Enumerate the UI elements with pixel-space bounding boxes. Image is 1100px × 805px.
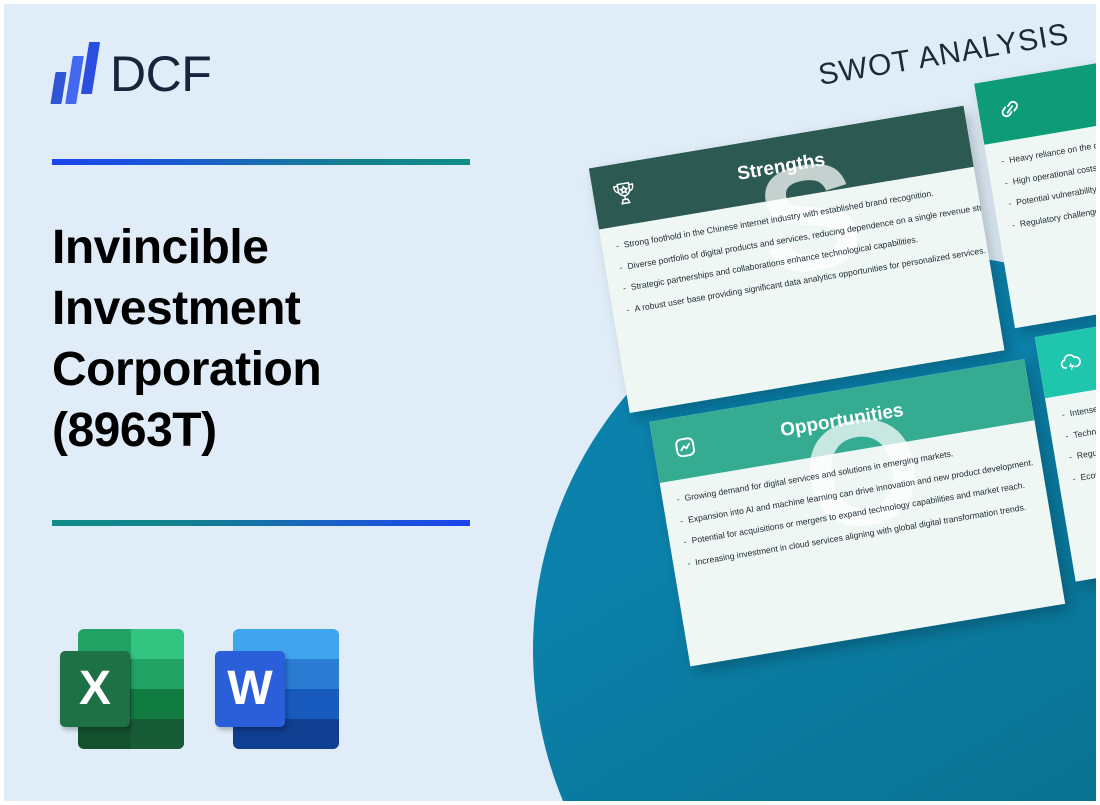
logo-bar-2 (65, 56, 84, 104)
swot-card-strengths[interactable]: Strengths S Strong foothold in the Chine… (589, 106, 1005, 413)
trophy-icon (589, 158, 660, 229)
logo-bar-1 (50, 72, 66, 104)
brand-logo-text: DCF (110, 45, 211, 103)
three-bar-chart-mark-icon (48, 42, 104, 104)
excel-letter-tile: X (60, 651, 130, 727)
page-title: Invincible Investment Corporation (8963T… (52, 217, 482, 461)
download-icons: X W (54, 624, 344, 754)
word-icon[interactable]: W (209, 624, 344, 754)
divider-bottom (52, 520, 470, 526)
swot-board: SWOT ANALYSIS Strengths (569, 20, 1096, 665)
storm-cloud-icon (1035, 327, 1096, 398)
trend-line-icon (649, 412, 720, 483)
word-letter-tile: W (215, 651, 285, 727)
page-background: DCF Invincible Investment Corporation (8… (4, 4, 1096, 801)
chain-link-icon (974, 73, 1045, 144)
brand-logo[interactable]: DCF (48, 42, 258, 110)
slide-canvas: DCF Invincible Investment Corporation (8… (0, 0, 1100, 805)
divider-top (52, 159, 470, 165)
logo-bar-3 (81, 42, 100, 94)
excel-icon[interactable]: X (54, 624, 189, 754)
